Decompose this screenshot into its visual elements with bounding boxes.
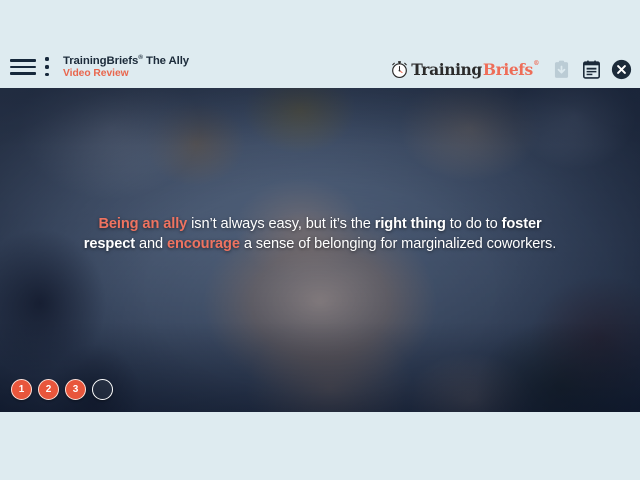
training-video-player: TrainingBriefs® The Ally Video Review Tr… <box>0 0 640 480</box>
kebab-dot <box>45 65 48 68</box>
logo-word-training: Training <box>411 60 482 79</box>
hamburger-line <box>10 66 36 69</box>
logo-word-briefs: Briefs <box>483 60 533 79</box>
stopwatch-icon <box>390 60 409 79</box>
notes-icon[interactable] <box>581 59 602 80</box>
hamburger-line <box>10 72 36 75</box>
logo-registered-mark: ® <box>533 61 539 67</box>
close-icon[interactable] <box>611 59 632 80</box>
caption-highlight: encourage <box>167 236 240 252</box>
header-right-group: TrainingBriefs® <box>390 59 632 80</box>
page-title-text: TrainingBriefs <box>63 55 138 67</box>
video-stage[interactable]: Being an ally isn’t always easy, but it’… <box>0 88 640 412</box>
header-left-group: TrainingBriefs® The Ally Video Review <box>10 54 189 80</box>
page-subtitle: Video Review <box>63 68 189 80</box>
pagination-dots: 123 <box>11 379 113 400</box>
kebab-menu-icon[interactable] <box>43 57 51 76</box>
caption-text: isn’t always easy, but it’s the <box>187 216 375 232</box>
app-header: TrainingBriefs® The Ally Video Review Tr… <box>0 0 640 88</box>
caption-bold: right thing <box>375 216 446 232</box>
logo-wordmark: TrainingBriefs® <box>411 60 539 79</box>
pagination-dot-1[interactable]: 1 <box>11 379 32 400</box>
caption-highlight: Being an ally <box>98 216 187 232</box>
page-title: TrainingBriefs® The Ally <box>63 54 189 68</box>
kebab-dot <box>45 57 48 60</box>
download-icon[interactable] <box>551 59 572 80</box>
caption-text: to do to <box>446 216 502 232</box>
hamburger-menu-icon[interactable] <box>10 58 36 76</box>
hamburger-line <box>10 59 36 62</box>
page-title-suffix: The Ally <box>143 55 189 67</box>
course-title-block: TrainingBriefs® The Ally Video Review <box>63 54 189 80</box>
kebab-dot <box>45 73 48 76</box>
caption-text: a sense of belonging for marginalized co… <box>240 236 556 252</box>
caption-text: and <box>135 236 167 252</box>
pagination-dot-4[interactable] <box>92 379 113 400</box>
footer-area <box>0 412 640 480</box>
video-caption: Being an ally isn’t always easy, but it’… <box>0 215 640 255</box>
pagination-dot-2[interactable]: 2 <box>38 379 59 400</box>
trainingbriefs-logo: TrainingBriefs® <box>390 60 539 79</box>
pagination-dot-3[interactable]: 3 <box>65 379 86 400</box>
